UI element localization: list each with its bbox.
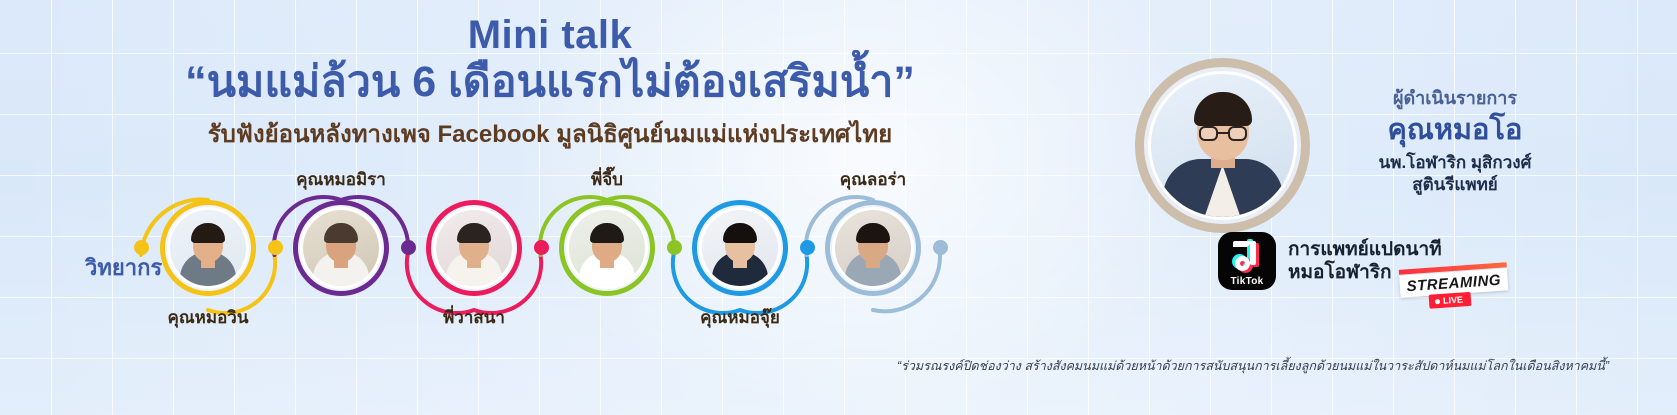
speaker-node-3[interactable]: พี่วาสนา (426, 200, 522, 296)
live-badge: LIVE (1429, 292, 1472, 309)
speaker-timeline: วิทยากร คุณหมอวินคุณหมอมิราพี่วาสนาพี่จี… (0, 178, 1080, 353)
channel-name-line1: การแพทย์แปดนาที (1288, 238, 1442, 261)
timeline-connector-dot (534, 240, 549, 255)
speaker-node-2[interactable]: คุณหมอมิรา (293, 200, 389, 296)
speaker-name: พี่จี๊บ (512, 166, 702, 193)
timeline-start-dot (134, 240, 149, 255)
speaker-photo (303, 210, 379, 286)
speaker-node-4[interactable]: พี่จี๊บ (559, 200, 655, 296)
speaker-ring-inner (566, 207, 648, 289)
speaker-name: คุณลอร่า (778, 166, 968, 193)
speaker-photo (569, 210, 645, 286)
tiktok-wordmark: TikTok (1218, 276, 1276, 287)
host-avatar-photo (1148, 71, 1297, 220)
speaker-name: คุณหมอมิรา (246, 166, 436, 193)
speaker-name: พี่วาสนา (379, 304, 569, 331)
speaker-name: คุณหมอวิน (113, 304, 303, 331)
timeline-connector-dot (667, 240, 682, 255)
host-specialty: สูตินรีแพทย์ (1290, 174, 1620, 196)
footnote: “ร่วมรณรงค์ปิดช่องว่าง สร้างสังคมนมแม่ด้… (838, 356, 1668, 376)
speaker-node-6[interactable]: คุณลอร่า (825, 200, 921, 296)
host-nickname: คุณหมอโอ (1290, 112, 1620, 148)
speaker-photo (170, 210, 246, 286)
speaker-photo (702, 210, 778, 286)
speaker-ring-inner (433, 207, 515, 289)
glasses-icon (1199, 126, 1247, 141)
host-role: ผู้ดำเนินรายการ (1290, 88, 1620, 110)
tiktok-white-note (1235, 241, 1259, 271)
speaker-ring-inner (832, 207, 914, 289)
headline-subtitle: รับฟังย้อนหลังทางเพจ Facebook มูลนิธิศูน… (0, 121, 1100, 150)
speaker-photo (835, 210, 911, 286)
tiktok-icon[interactable]: TikTok (1218, 232, 1276, 290)
timeline-connector-dot (268, 240, 283, 255)
speaker-name: คุณหมอจุ๊ย (645, 304, 835, 331)
live-label: LIVE (1443, 294, 1464, 305)
event-banner: Mini talk “นมแม่ล้วน 6 เดือนแรกไม่ต้องเส… (0, 0, 1677, 415)
host-fullname: นพ.โอฬาริก มุสิกวงศ์ (1290, 152, 1620, 174)
timeline-end-dot (933, 240, 948, 255)
host-info: ผู้ดำเนินรายการ คุณหมอโอ นพ.โอฬาริก มุสิ… (1290, 88, 1620, 196)
speaker-photo (436, 210, 512, 286)
page-title: Mini talk (0, 14, 1100, 56)
speaker-ring-inner (699, 207, 781, 289)
host-hair (1194, 92, 1252, 126)
speaker-node-1[interactable]: คุณหมอวิน (160, 200, 256, 296)
speaker-node-5[interactable]: คุณหมอจุ๊ย (692, 200, 788, 296)
timeline-connector-dot (401, 240, 416, 255)
talk-topic: “นมแม่ล้วน 6 เดือนแรกไม่ต้องเสริมน้ำ” (0, 58, 1100, 107)
speaker-ring-inner (167, 207, 249, 289)
speaker-ring-inner (300, 207, 382, 289)
headline-block: Mini talk “นมแม่ล้วน 6 เดือนแรกไม่ต้องเส… (0, 14, 1100, 150)
streaming-badge: STREAMING LIVE (1399, 262, 1510, 309)
timeline-connector-dot (800, 240, 815, 255)
live-dot-icon (1435, 299, 1440, 304)
host-avatar (1135, 58, 1310, 233)
